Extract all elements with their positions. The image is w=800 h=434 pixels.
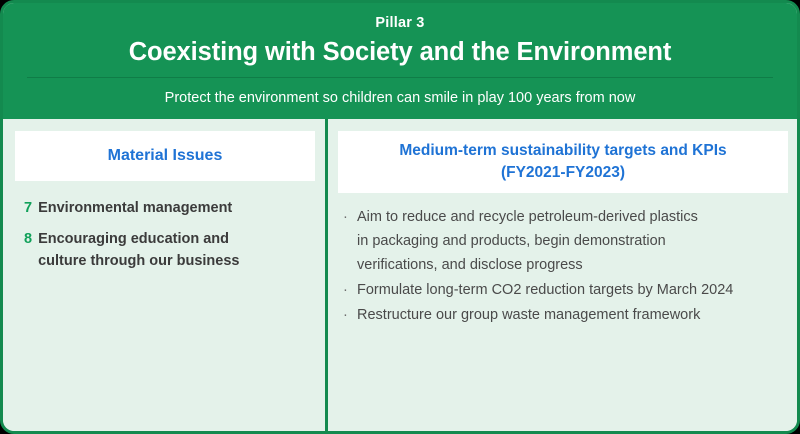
kpi-heading-line1: Medium-term sustainability targets and K… xyxy=(399,142,726,159)
bullet-icon: · xyxy=(343,278,357,302)
list-item: · Restructure our group waste management… xyxy=(343,303,788,327)
list-item: · Aim to reduce and recycle petroleum-de… xyxy=(343,205,788,277)
kpi-heading: Medium-term sustainability targets and K… xyxy=(338,131,788,193)
list-item: 7 Environmental management xyxy=(24,197,315,219)
list-item: 8 Encouraging education and culture thro… xyxy=(24,228,315,272)
list-item: · Formulate long-term CO2 reduction targ… xyxy=(343,278,788,302)
issue-number: 8 xyxy=(24,228,32,250)
card-header: Pillar 3 Coexisting with Society and the… xyxy=(3,3,797,119)
header-subtitle: Protect the environment so children can … xyxy=(27,78,773,110)
pillar-label: Pillar 3 xyxy=(27,13,773,33)
page-title: Coexisting with Society and the Environm… xyxy=(27,35,773,69)
issue-number: 7 xyxy=(24,197,32,219)
kpi-column: Medium-term sustainability targets and K… xyxy=(328,119,797,431)
kpi-list: · Aim to reduce and recycle petroleum-de… xyxy=(338,205,788,327)
material-issues-heading: Material Issues xyxy=(15,131,315,181)
bullet-icon: · xyxy=(343,303,357,327)
material-issues-column: Material Issues 7 Environmental manageme… xyxy=(3,119,325,431)
kpi-text: Restructure our group waste management f… xyxy=(357,303,700,327)
kpi-heading-line2: (FY2021-FY2023) xyxy=(399,162,726,184)
bullet-icon: · xyxy=(343,205,357,229)
issue-label: Encouraging education and culture throug… xyxy=(38,228,239,272)
kpi-text: Aim to reduce and recycle petroleum-deri… xyxy=(357,205,698,277)
kpi-text: Formulate long-term CO2 reduction target… xyxy=(357,278,733,302)
issue-label: Environmental management xyxy=(38,197,232,219)
pillar-card: Pillar 3 Coexisting with Society and the… xyxy=(0,0,800,434)
card-body: Material Issues 7 Environmental manageme… xyxy=(3,119,797,431)
material-issues-list: 7 Environmental management 8 Encouraging… xyxy=(15,197,315,272)
